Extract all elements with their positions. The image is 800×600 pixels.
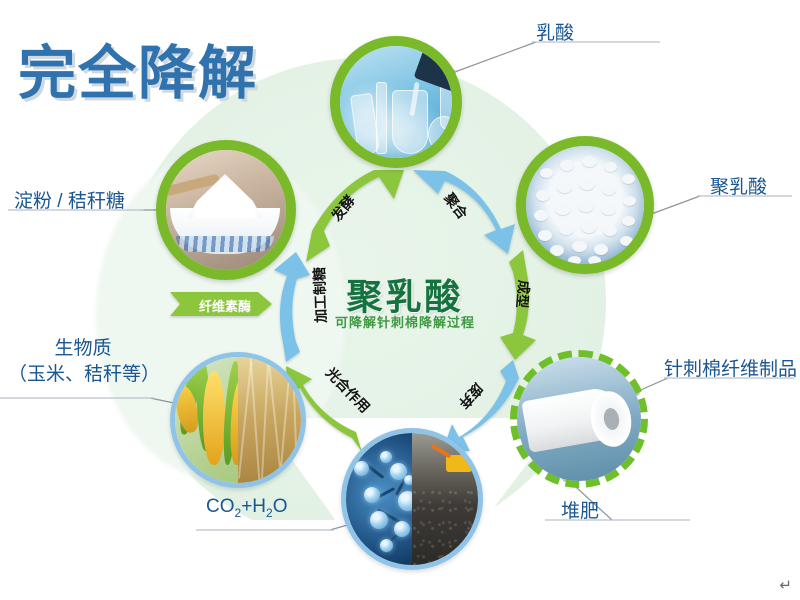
h2o-subscript: 2 [266,506,273,520]
h2o-suffix: O [273,496,288,517]
label-pla: 聚乳酸 [710,172,767,199]
node-pla-pellets[interactable] [516,136,654,274]
node-fiber-product[interactable] [510,350,648,488]
arrow-fermentation [306,170,404,262]
node-lactic-acid[interactable] [330,36,462,168]
straw-photo [238,357,301,483]
node-biomass[interactable] [170,352,306,488]
label-biomass-line2: （玉米、秸秆等） [8,362,158,388]
co2-mid: +H [241,496,266,517]
molecule-and-soil-photo [346,433,478,565]
node-compost-co2[interactable] [341,428,483,570]
corn-photo [175,357,238,483]
molecule-illustration [346,433,412,565]
compost-soil-photo [412,433,478,565]
starch-powder-photo [166,150,286,270]
arrow-sugar-process [274,252,310,362]
label-starch: 淀粉 / 秸秆糖 [14,186,125,213]
diagram-canvas: 完全降解 [0,0,800,600]
label-lactic-acid: 乳酸 [536,18,574,45]
pla-pellets-photo [526,146,644,264]
co2-prefix: CO [206,496,235,517]
banner-label-cellulase: 纤维素酶 [182,296,268,315]
center-subtitle: 可降解针刺棉降解过程 [300,312,510,331]
corn-and-straw-photo [175,357,301,483]
lab-glassware-photo [340,46,452,158]
label-co2-h2o: CO2+H2O [206,496,287,520]
label-biomass: 生物质 （玉米、秸秆等） [8,336,158,387]
arrow-label-molding: 成型 [512,279,534,309]
nonwoven-fabric-roll-photo [517,357,641,481]
label-fiber-product: 针刺棉纤维制品 [664,354,797,381]
label-compost: 堆肥 [561,496,599,523]
caret-marker: ↵ [779,576,792,594]
gloved-hand-shape [414,46,452,96]
node-starch[interactable] [156,140,296,280]
label-biomass-line1: 生物质 [8,336,158,362]
